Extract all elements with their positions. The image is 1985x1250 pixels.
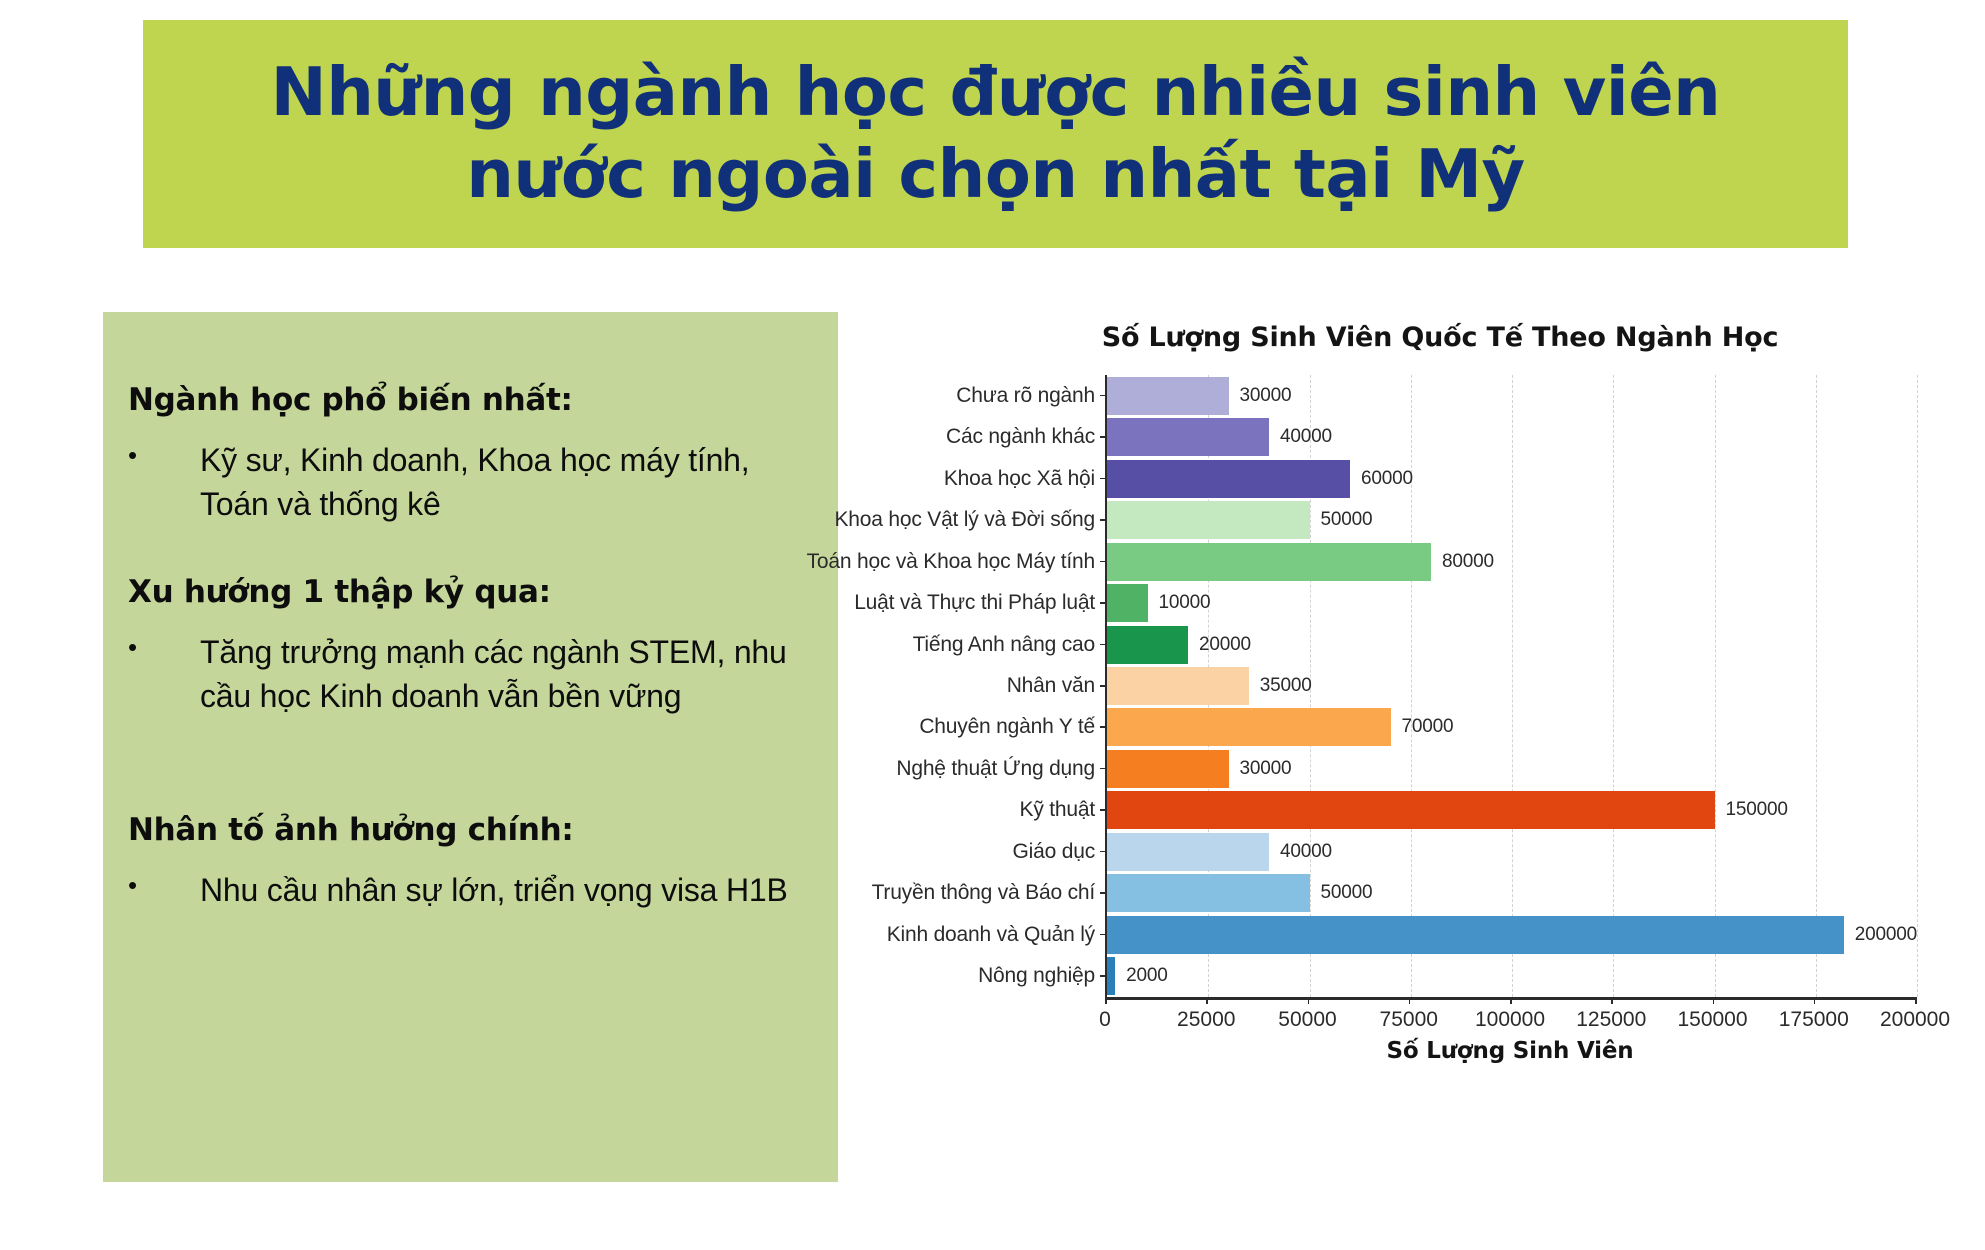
bar-row: Khoa học Xã hội60000 <box>1107 460 1917 498</box>
bar-value-label: 70000 <box>1402 716 1454 738</box>
x-axis-tick-label: 0 <box>1099 1008 1111 1032</box>
bar-value-label: 30000 <box>1240 758 1292 780</box>
x-axis-tick <box>1814 997 1816 1004</box>
info-bullet-item: •Nhu cầu nhân sự lớn, triển vọng visa H1… <box>103 868 838 912</box>
bar-value-label: 40000 <box>1280 426 1332 448</box>
bar <box>1107 916 1844 954</box>
x-axis-tick <box>1510 997 1512 1004</box>
category-label: Luật và Thực thi Pháp luật <box>854 584 1095 622</box>
bar-row: Luật và Thực thi Pháp luật10000 <box>1107 584 1917 622</box>
y-axis-tick <box>1100 602 1107 604</box>
category-label: Kỹ thuật <box>1020 791 1095 829</box>
bar-row: Chưa rõ ngành30000 <box>1107 377 1917 415</box>
y-axis-tick <box>1100 561 1107 563</box>
x-axis-tick-label: 200000 <box>1880 1008 1950 1032</box>
category-label: Chưa rõ ngành <box>956 377 1095 415</box>
bar-row: Giáo dục40000 <box>1107 833 1917 871</box>
x-axis-tick <box>1915 997 1917 1004</box>
x-axis-tick-label: 150000 <box>1677 1008 1747 1032</box>
bar-value-label: 80000 <box>1442 551 1494 573</box>
bar-value-label: 50000 <box>1321 509 1373 531</box>
bar <box>1107 460 1350 498</box>
bar <box>1107 667 1249 705</box>
category-label: Khoa học Vật lý và Đời sống <box>834 501 1095 539</box>
category-label: Chuyên ngành Y tế <box>919 708 1095 746</box>
x-axis-tick <box>1409 997 1411 1004</box>
info-block-heading: Xu hướng 1 thập kỷ qua: <box>103 574 838 610</box>
info-bullet-text: Kỹ sư, Kinh doanh, Khoa học máy tính, To… <box>200 438 810 526</box>
bar-value-label: 20000 <box>1199 634 1251 656</box>
bar-row: Toán học và Khoa học Máy tính80000 <box>1107 543 1917 581</box>
info-bullet-text: Tăng trưởng mạnh các ngành STEM, nhu cầu… <box>200 630 810 718</box>
category-label: Các ngành khác <box>946 418 1095 456</box>
y-axis-tick <box>1100 975 1107 977</box>
x-axis: 0250005000075000100000125000150000175000… <box>1105 997 1915 1000</box>
page-title-line-2: nước ngoài chọn nhất tại Mỹ <box>216 134 1776 216</box>
y-axis-tick <box>1100 519 1107 521</box>
y-axis-tick <box>1100 395 1107 397</box>
info-bullet-item: •Kỹ sư, Kinh doanh, Khoa học máy tính, T… <box>103 438 838 526</box>
bar-value-label: 10000 <box>1159 592 1211 614</box>
bullet-dot-icon: • <box>128 438 200 474</box>
bar-value-label: 40000 <box>1280 841 1332 863</box>
x-axis-tick-label: 25000 <box>1177 1008 1235 1032</box>
y-axis-tick <box>1100 809 1107 811</box>
bar <box>1107 750 1229 788</box>
bar <box>1107 874 1310 912</box>
y-axis-tick <box>1100 768 1107 770</box>
x-axis-tick <box>1713 997 1715 1004</box>
bar-value-label: 35000 <box>1260 675 1312 697</box>
page-title: Những ngành học được nhiều sinh viên nướ… <box>216 52 1776 215</box>
bar-value-label: 50000 <box>1321 882 1373 904</box>
bar-value-label: 150000 <box>1726 799 1788 821</box>
bar <box>1107 584 1148 622</box>
bar-row: Kỹ thuật150000 <box>1107 791 1917 829</box>
info-bullet-text: Nhu cầu nhân sự lớn, triển vọng visa H1B <box>200 868 810 912</box>
bar <box>1107 418 1269 456</box>
y-axis-tick <box>1100 726 1107 728</box>
bar-row: Nghệ thuật Ứng dụng30000 <box>1107 750 1917 788</box>
bar <box>1107 543 1431 581</box>
x-axis-tick <box>1105 997 1107 1004</box>
category-label: Kinh doanh và Quản lý <box>887 916 1095 954</box>
category-label: Truyền thông và Báo chí <box>872 874 1095 912</box>
category-label: Tiếng Anh nâng cao <box>913 626 1095 664</box>
y-axis-tick <box>1100 478 1107 480</box>
bar-row: Nông nghiệp2000 <box>1107 957 1917 995</box>
chart-container: Số Lượng Sinh Viên Quốc Tế Theo Ngành Họ… <box>845 310 1965 1210</box>
category-label: Nghệ thuật Ứng dụng <box>896 750 1095 788</box>
x-axis-tick-label: 100000 <box>1475 1008 1545 1032</box>
bullet-dot-icon: • <box>128 868 200 904</box>
bar-value-label: 30000 <box>1240 385 1292 407</box>
info-block: Ngành học phổ biến nhất:•Kỹ sư, Kinh doa… <box>103 382 838 526</box>
info-block: Xu hướng 1 thập kỷ qua:•Tăng trưởng mạnh… <box>103 574 838 718</box>
bar <box>1107 708 1391 746</box>
bar-row: Khoa học Vật lý và Đời sống50000 <box>1107 501 1917 539</box>
bar-value-label: 60000 <box>1361 468 1413 490</box>
bar <box>1107 833 1269 871</box>
y-axis-tick <box>1100 436 1107 438</box>
info-bullet-item: •Tăng trưởng mạnh các ngành STEM, nhu cầ… <box>103 630 838 718</box>
bar-row: Nhân văn35000 <box>1107 667 1917 705</box>
bullet-dot-icon: • <box>128 630 200 666</box>
category-label: Nhân văn <box>1007 667 1095 705</box>
category-label: Giáo dục <box>1013 833 1095 871</box>
bar-row: Chuyên ngành Y tế70000 <box>1107 708 1917 746</box>
x-axis-tick-label: 125000 <box>1576 1008 1646 1032</box>
info-block-heading: Nhân tố ảnh hưởng chính: <box>103 812 838 848</box>
bar <box>1107 501 1310 539</box>
x-axis-tick-label: 50000 <box>1278 1008 1336 1032</box>
y-axis-tick <box>1100 685 1107 687</box>
y-axis-tick <box>1100 644 1107 646</box>
bar-row: Tiếng Anh nâng cao20000 <box>1107 626 1917 664</box>
grid-line <box>1917 375 1919 997</box>
info-block-heading: Ngành học phổ biến nhất: <box>103 382 838 418</box>
bar-value-label: 200000 <box>1855 924 1917 946</box>
x-axis-tick-label: 75000 <box>1380 1008 1438 1032</box>
info-panel: Ngành học phổ biến nhất:•Kỹ sư, Kinh doa… <box>103 312 838 1182</box>
x-axis-tick <box>1611 997 1613 1004</box>
bar-value-label: 2000 <box>1126 965 1167 987</box>
bar-row: Các ngành khác40000 <box>1107 418 1917 456</box>
chart-title: Số Lượng Sinh Viên Quốc Tế Theo Ngành Họ… <box>845 322 1965 353</box>
bar <box>1107 791 1715 829</box>
bar <box>1107 377 1229 415</box>
plot-area: Chưa rõ ngành30000Các ngành khác40000Kho… <box>1105 375 1917 997</box>
category-label: Khoa học Xã hội <box>944 460 1095 498</box>
bar <box>1107 626 1188 664</box>
bar-row: Truyền thông và Báo chí50000 <box>1107 874 1917 912</box>
slide-title-banner: Những ngành học được nhiều sinh viên nướ… <box>143 20 1848 248</box>
x-axis-title: Số Lượng Sinh Viên <box>1105 1038 1915 1064</box>
page-title-line-1: Những ngành học được nhiều sinh viên <box>216 52 1776 134</box>
y-axis-tick <box>1100 934 1107 936</box>
x-axis-tick <box>1206 997 1208 1004</box>
x-axis-tick <box>1308 997 1310 1004</box>
y-axis-tick <box>1100 851 1107 853</box>
bar <box>1107 957 1115 995</box>
y-axis-tick <box>1100 892 1107 894</box>
category-label: Toán học và Khoa học Máy tính <box>807 543 1095 581</box>
x-axis-tick-label: 175000 <box>1779 1008 1849 1032</box>
info-block: Nhân tố ảnh hưởng chính:•Nhu cầu nhân sự… <box>103 812 838 912</box>
category-label: Nông nghiệp <box>978 957 1095 995</box>
bar-row: Kinh doanh và Quản lý200000 <box>1107 916 1917 954</box>
